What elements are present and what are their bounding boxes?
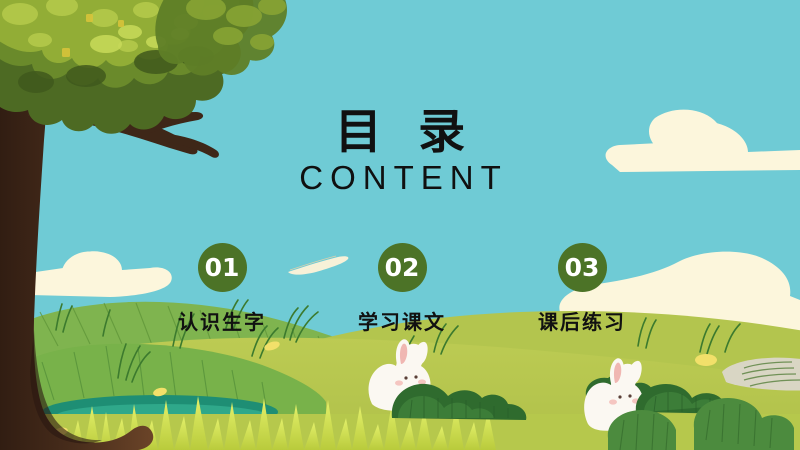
content-item-label: 学习课文 [332, 306, 472, 335]
content-item-03[interactable]: 03 课后练习 [512, 243, 652, 335]
scene-illustration [0, 0, 800, 450]
page-title-en: CONTENT [7, 159, 800, 197]
bush-bottom-right-2 [608, 410, 676, 450]
content-item-number-badge: 03 [558, 243, 607, 292]
content-item-02[interactable]: 02 学习课文 [332, 243, 472, 335]
bush-right-front [636, 384, 742, 414]
cloud-left [14, 251, 172, 297]
content-item-number-badge: 01 [198, 243, 247, 292]
rabbit-right [584, 358, 643, 430]
grass-bottom-strip [70, 396, 496, 450]
presentation-slide: 目 录 CONTENT 01 认识生字 02 学习课文 03 课后练习 [0, 0, 800, 450]
ridge-left-pond [0, 344, 326, 450]
sky-background [0, 0, 800, 450]
pond-left [42, 395, 278, 429]
grass-base-strip [0, 414, 800, 450]
bush-center [392, 384, 527, 420]
slide-title-block: 目 录 CONTENT [0, 108, 800, 197]
content-item-01[interactable]: 01 认识生字 [152, 243, 292, 335]
tree-left [0, 0, 287, 450]
bush-bottom-right [694, 398, 794, 450]
butterfly-decorations [106, 32, 149, 62]
rock-path-right [722, 358, 800, 391]
meadow-near [0, 338, 800, 450]
content-item-label: 认识生字 [152, 306, 292, 335]
page-title-cn: 目 录 [10, 108, 800, 157]
petal-decorations [51, 340, 717, 438]
bush-right-back [586, 375, 654, 396]
content-item-label: 课后练习 [512, 306, 652, 335]
rabbit-center [369, 339, 431, 410]
content-item-number-badge: 02 [378, 243, 427, 292]
